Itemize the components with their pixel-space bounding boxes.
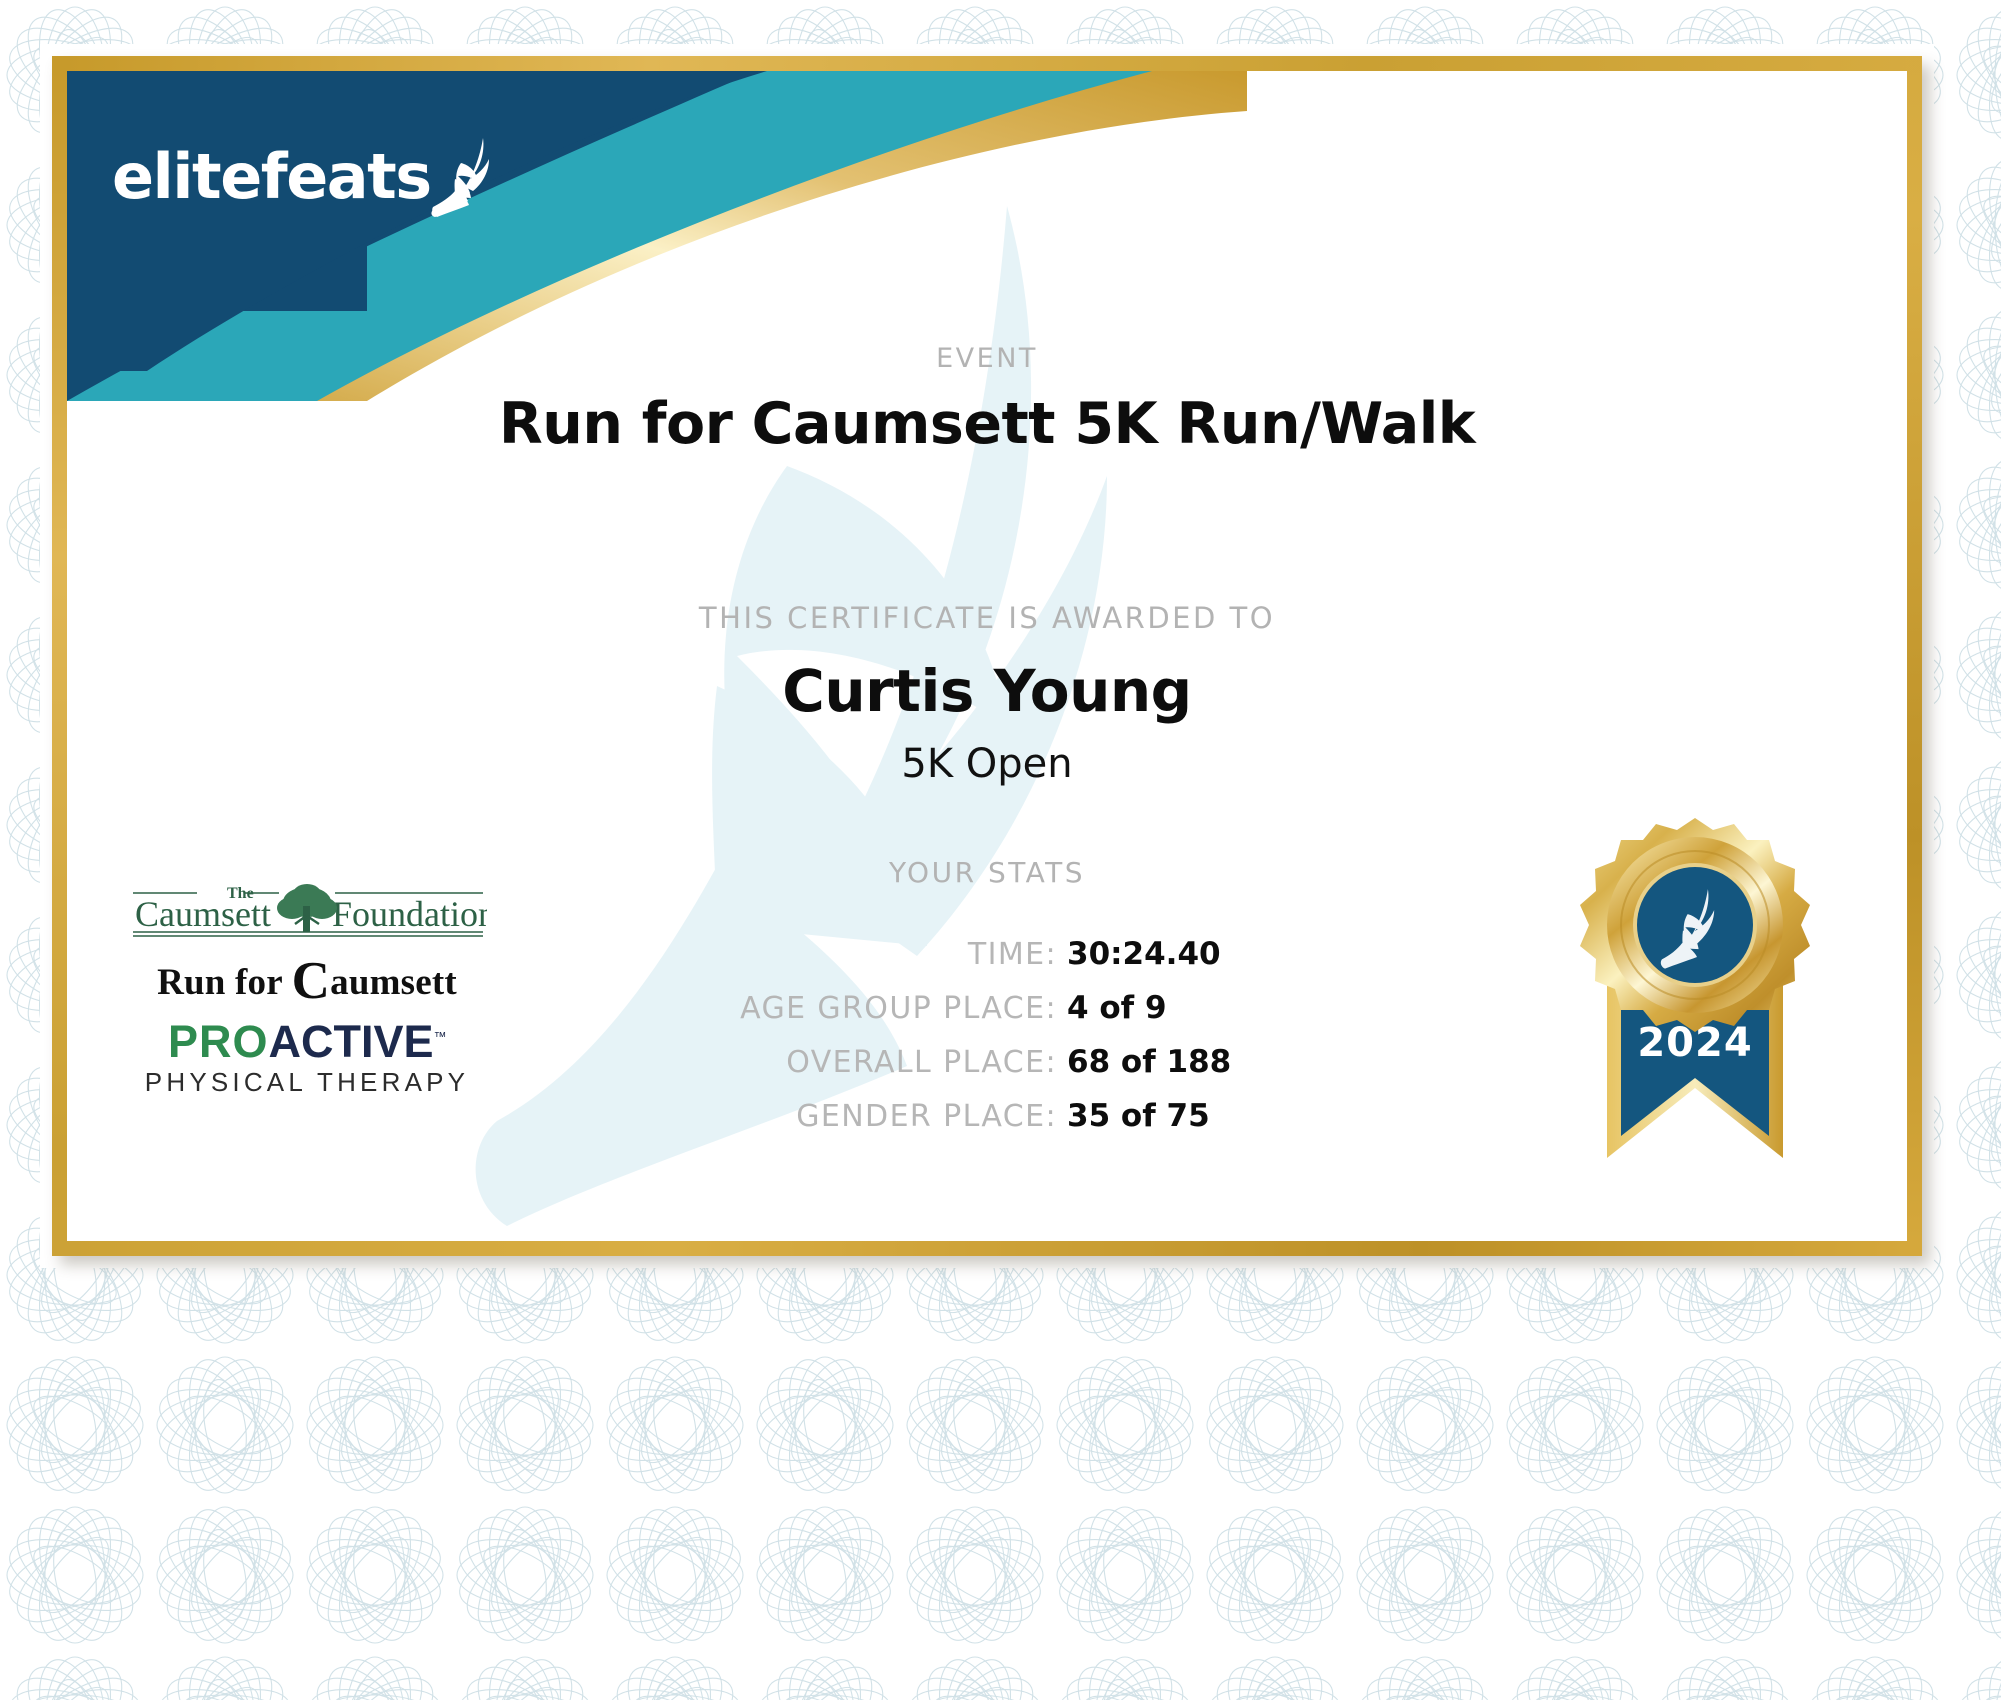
foundation-right-word: Foundation [332,894,487,934]
winged-foot-icon [425,135,505,221]
stat-value: 68 of 188 [1067,1044,1267,1080]
sponsor-caumsett-foundation: The Caumsett Foundation [127,876,487,948]
proactive-active: ACTIVE [269,1016,434,1067]
event-label: EVENT [67,343,1907,374]
certificate-content: EVENT Run for Caumsett 5K Run/Walk THIS … [67,71,1907,1241]
certificate-frame: elitefeats [52,56,1922,1256]
foundation-left-word: Caumsett [135,894,271,934]
tree-icon [277,884,337,932]
proactive-wordmark: PROACTIVE™ [127,1019,487,1064]
stat-value: 4 of 9 [1067,990,1267,1026]
stat-value: 30:24.40 [1067,936,1267,972]
division-label: 5K Open [67,741,1907,787]
sponsor-run-for-caumsett: Run for Caumsett [127,964,487,1001]
rfc-suffix: aumsett [330,962,457,1003]
finisher-medal: 2024 [1535,806,1855,1241]
stat-value: 35 of 75 [1067,1098,1267,1134]
recipient-name: Curtis Young [67,657,1907,725]
event-title: Run for Caumsett 5K Run/Walk [67,391,1907,457]
sponsor-proactive: PROACTIVE™ PHYSICAL THERAPY [127,1019,487,1098]
elitefeats-logo: elitefeats [112,133,505,221]
awarded-to-label: THIS CERTIFICATE IS AWARDED TO [67,601,1907,635]
award-rosette-icon: 2024 [1545,806,1845,1241]
stat-key: OVERALL PLACE: [707,1045,1057,1080]
stat-key: AGE GROUP PLACE: [707,991,1057,1026]
rfc-prefix: Run for [157,962,292,1003]
certificate-root: elitefeats [0,0,2001,1700]
stat-key: GENDER PLACE: [707,1099,1057,1134]
rfc-initial: C [292,952,330,1010]
caumsett-foundation-logo: The Caumsett Foundation [127,876,487,948]
sponsor-logos: The Caumsett Foundation [127,876,487,1114]
stat-key: TIME: [707,937,1057,972]
proactive-pro: PR [168,1016,233,1067]
proactive-tagline: PHYSICAL THERAPY [127,1067,487,1098]
proactive-trademark: ™ [434,1029,447,1044]
proactive-o-ring-icon: O [232,1016,268,1067]
brand-wordmark: elitefeats [112,146,431,208]
